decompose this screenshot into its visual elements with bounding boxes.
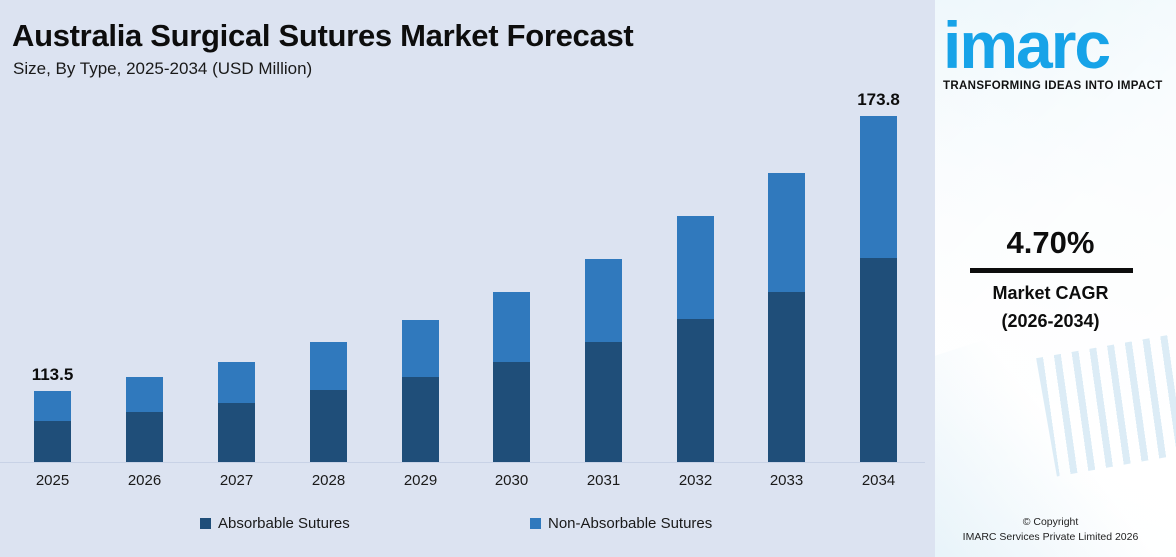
bar-segment-non-absorbable[interactable] — [402, 320, 439, 377]
legend-swatch-icon — [530, 518, 541, 529]
bar-segment-absorbable[interactable] — [126, 412, 163, 462]
bar-segment-non-absorbable[interactable] — [218, 362, 255, 403]
x-axis: 2025202620272028202920302031203220332034 — [0, 463, 925, 503]
legend-label: Absorbable Sutures — [218, 515, 350, 532]
legend-swatch-icon — [200, 518, 211, 529]
x-axis-tick-2033: 2033 — [770, 472, 803, 489]
bar-2034[interactable] — [860, 116, 897, 462]
x-axis-tick-2032: 2032 — [679, 472, 712, 489]
page-title: Australia Surgical Sutures Market Foreca… — [12, 18, 633, 54]
bar-2031[interactable] — [585, 259, 622, 462]
bar-segment-non-absorbable[interactable] — [126, 377, 163, 412]
logo-wordmark: imarc — [943, 14, 1176, 77]
x-axis-tick-2025: 2025 — [36, 472, 69, 489]
bar-segment-non-absorbable[interactable] — [768, 173, 805, 292]
bar-segment-absorbable[interactable] — [402, 377, 439, 462]
bar-segment-absorbable[interactable] — [585, 342, 622, 462]
panel-edge-divider — [925, 0, 935, 557]
cagr-period: (2026-2034) — [925, 311, 1176, 332]
bar-segment-non-absorbable[interactable] — [493, 292, 530, 362]
chart-legend: Absorbable SuturesNon-Absorbable Sutures — [0, 515, 925, 547]
x-axis-tick-2034: 2034 — [862, 472, 895, 489]
bar-2029[interactable] — [402, 320, 439, 462]
x-axis-tick-2027: 2027 — [220, 472, 253, 489]
bar-value-label-2034: 173.8 — [857, 90, 900, 110]
cagr-label: Market CAGR — [925, 283, 1176, 304]
bar-segment-absorbable[interactable] — [493, 362, 530, 462]
bar-2027[interactable] — [218, 362, 255, 462]
bar-segment-absorbable[interactable] — [768, 292, 805, 462]
chart-panel: Australia Surgical Sutures Market Foreca… — [0, 0, 925, 557]
bar-segment-absorbable[interactable] — [310, 390, 347, 462]
bar-2025[interactable] — [34, 391, 71, 462]
brand-panel: imarc TRANSFORMING IDEAS INTO IMPACT 4.7… — [925, 0, 1176, 557]
bar-segment-non-absorbable[interactable] — [310, 342, 347, 390]
cagr-divider — [970, 268, 1133, 273]
bar-segment-absorbable[interactable] — [860, 258, 897, 462]
bar-segment-absorbable[interactable] — [677, 319, 714, 462]
legend-label: Non-Absorbable Sutures — [548, 515, 712, 532]
bar-2026[interactable] — [126, 377, 163, 462]
bar-segment-absorbable[interactable] — [218, 403, 255, 462]
bar-2030[interactable] — [493, 292, 530, 462]
x-axis-tick-2031: 2031 — [587, 472, 620, 489]
bar-segment-non-absorbable[interactable] — [860, 116, 897, 258]
bar-segment-non-absorbable[interactable] — [34, 391, 71, 421]
bar-value-label-2025: 113.5 — [32, 365, 74, 385]
logo-tagline: TRANSFORMING IDEAS INTO IMPACT — [943, 80, 1176, 92]
copyright-line-1: © Copyright — [925, 515, 1176, 530]
plot-area: 113.5173.8 — [0, 86, 925, 463]
legend-item-absorbable[interactable]: Absorbable Sutures — [200, 515, 350, 532]
bar-segment-absorbable[interactable] — [34, 421, 71, 462]
x-axis-tick-2026: 2026 — [128, 472, 161, 489]
page-subtitle: Size, By Type, 2025-2034 (USD Million) — [13, 59, 312, 79]
x-axis-tick-2029: 2029 — [404, 472, 437, 489]
legend-item-non-absorbable[interactable]: Non-Absorbable Sutures — [530, 515, 712, 532]
bar-segment-non-absorbable[interactable] — [677, 216, 714, 319]
bar-segment-non-absorbable[interactable] — [585, 259, 622, 342]
copyright-line-2: IMARC Services Private Limited 2026 — [925, 530, 1176, 545]
cagr-value: 4.70% — [925, 225, 1176, 261]
bar-2033[interactable] — [768, 173, 805, 462]
bar-2028[interactable] — [310, 342, 347, 462]
imarc-logo: imarc TRANSFORMING IDEAS INTO IMPACT — [943, 14, 1176, 92]
x-axis-tick-2030: 2030 — [495, 472, 528, 489]
bar-2032[interactable] — [677, 216, 714, 462]
chart-infographic: Australia Surgical Sutures Market Foreca… — [0, 0, 1176, 557]
copyright-notice: © Copyright IMARC Services Private Limit… — [925, 515, 1176, 545]
x-axis-tick-2028: 2028 — [312, 472, 345, 489]
